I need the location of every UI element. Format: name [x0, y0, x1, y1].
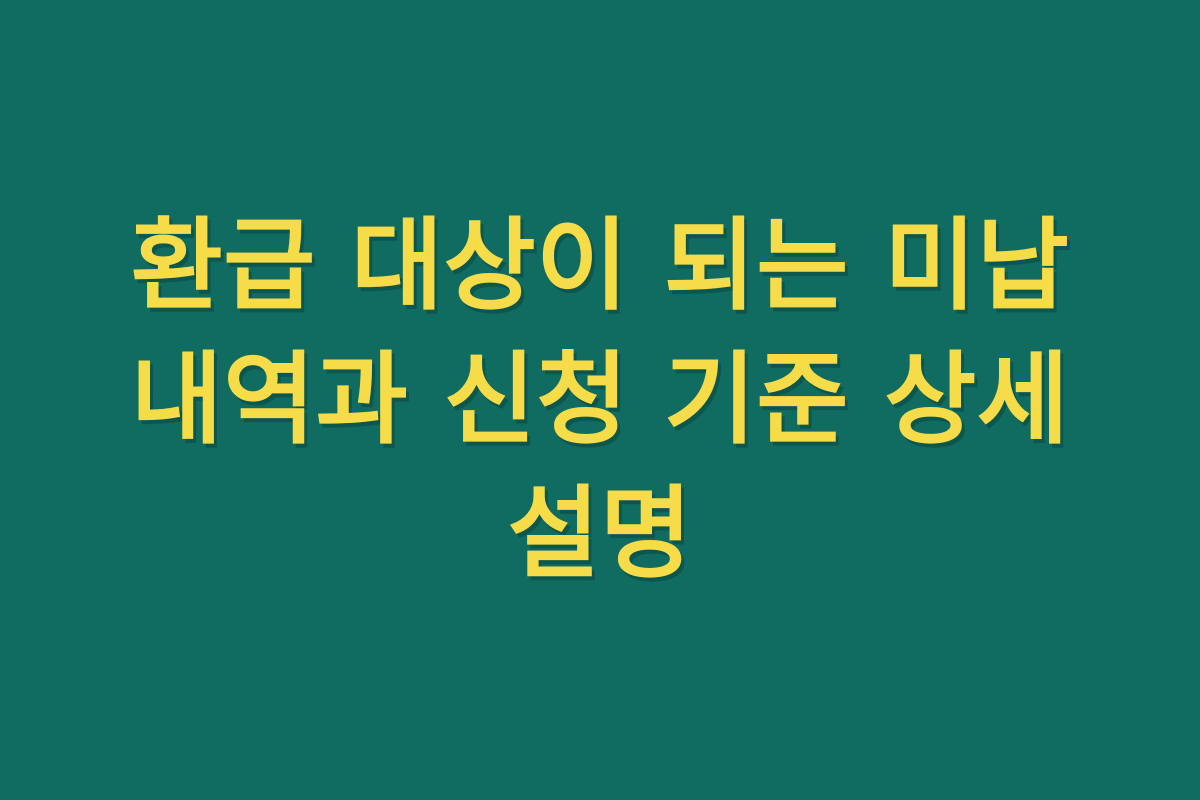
headline-line-3: 설명 — [80, 467, 1120, 601]
headline-line-1: 환급 대상이 되는 미납 — [80, 199, 1120, 333]
headline-text: 환급 대상이 되는 미납 내역과 신청 기준 상세 설명 — [0, 199, 1200, 601]
headline-line-2: 내역과 신청 기준 상세 — [80, 333, 1120, 467]
banner-canvas: 환급 대상이 되는 미납 내역과 신청 기준 상세 설명 — [0, 0, 1200, 800]
